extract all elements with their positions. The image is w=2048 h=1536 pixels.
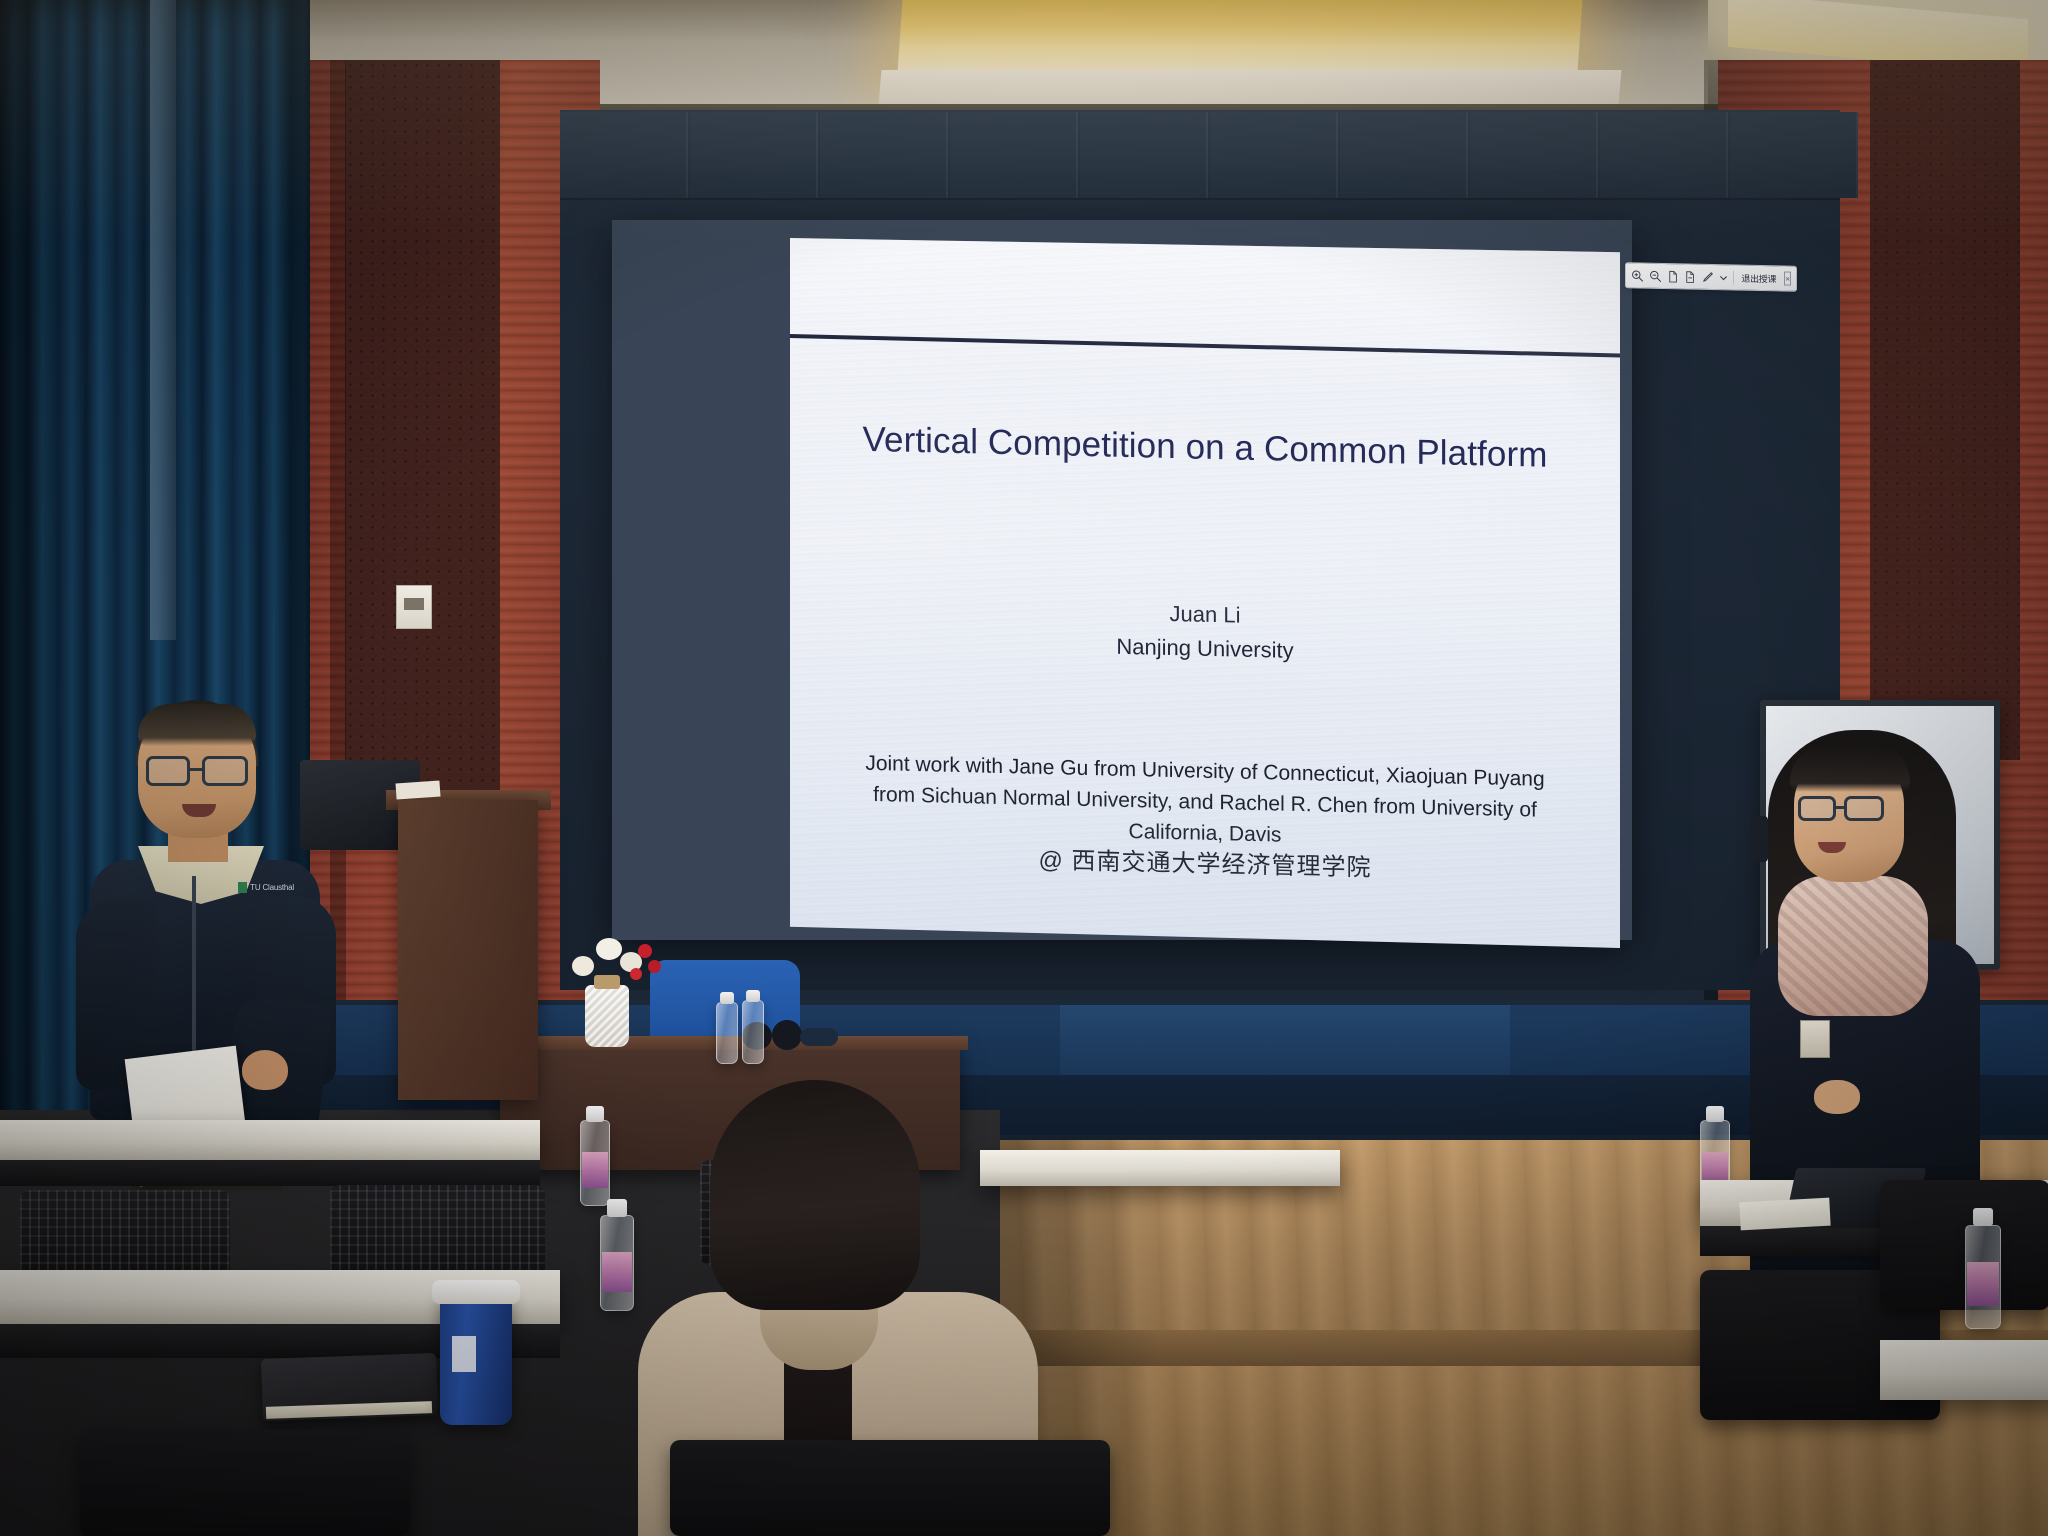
bottle-cap xyxy=(720,992,734,1004)
prev-page-icon[interactable] xyxy=(1667,268,1679,285)
bottle-cap xyxy=(1706,1106,1724,1122)
microphone-stand xyxy=(800,1028,838,1046)
ceiling-recess-lip xyxy=(879,70,1622,104)
surround-block xyxy=(950,112,1078,198)
curtain-fold-highlight xyxy=(150,0,176,640)
glasses-bridge xyxy=(1836,806,1846,809)
surround-block xyxy=(1470,112,1598,198)
podium-paper xyxy=(395,780,440,799)
glasses-lens-left xyxy=(146,756,190,786)
podium xyxy=(398,800,538,1100)
attendee-hair xyxy=(710,1080,920,1310)
chevron-down-icon[interactable] xyxy=(1719,269,1728,286)
presenter-scarf xyxy=(1778,876,1928,1016)
surround-block xyxy=(820,112,948,198)
surround-block xyxy=(1730,112,1858,198)
lecture-hall-photo: Vertical Competition on a Common Platfor… xyxy=(0,0,2048,1536)
glasses-lens-right xyxy=(1844,796,1884,821)
flower-red-berry xyxy=(648,960,661,973)
vase-neck xyxy=(594,975,620,989)
bottle-cap xyxy=(586,1106,604,1122)
jacket-logo-text: TU Clausthal xyxy=(250,883,294,892)
close-icon[interactable]: × xyxy=(1784,272,1791,286)
jacket-zipper xyxy=(192,876,196,1076)
glasses-lens-left xyxy=(1798,796,1836,821)
water-bottle xyxy=(716,1002,738,1064)
glasses-lens-right xyxy=(202,756,248,786)
flower-red-berry xyxy=(630,968,642,980)
bottle-label xyxy=(602,1252,632,1292)
surround-block xyxy=(1210,112,1338,198)
next-page-icon[interactable] xyxy=(1684,268,1696,285)
audience-chair xyxy=(1880,1180,2048,1310)
presenter-hand xyxy=(1814,1080,1860,1114)
slide-title: Vertical Competition on a Common Platfor… xyxy=(790,418,1620,478)
surround-block xyxy=(1080,112,1208,198)
name-badge xyxy=(1800,1020,1830,1058)
coffee-cup-lid xyxy=(432,1280,520,1304)
projector-control-toolbar[interactable]: 退出授课 × xyxy=(1625,262,1797,292)
surround-block xyxy=(560,112,688,198)
flower-white xyxy=(572,956,594,976)
exit-presentation-button[interactable]: 退出授课 xyxy=(1738,271,1779,285)
bottle-cap xyxy=(1973,1208,1993,1226)
speaker-hairline xyxy=(138,704,256,746)
microphone-base xyxy=(772,1020,802,1050)
left-speaker: TU Clausthal xyxy=(60,700,390,1180)
surround-block xyxy=(1600,112,1728,198)
bottle-label xyxy=(582,1152,608,1188)
presenter-hairline xyxy=(1790,744,1910,792)
speaker-hand xyxy=(242,1050,288,1090)
bottle-cap xyxy=(607,1199,627,1217)
bottle-cap xyxy=(746,990,760,1002)
flower-vase xyxy=(585,985,629,1047)
audience-chair xyxy=(670,1440,1110,1536)
surround-block xyxy=(1340,112,1468,198)
glasses-bridge xyxy=(190,768,203,771)
socket-slot xyxy=(404,598,424,610)
slide-acknowledgement-block: Joint work with Jane Gu from University … xyxy=(820,747,1590,889)
audience-chair xyxy=(80,1430,410,1536)
bottle-label xyxy=(1967,1262,1999,1306)
flower-red-berry xyxy=(638,944,652,958)
flower-white xyxy=(596,938,622,960)
coffee-cup xyxy=(440,1295,512,1425)
zoom-in-icon[interactable] xyxy=(1631,267,1644,284)
projected-slide[interactable]: Vertical Competition on a Common Platfor… xyxy=(790,238,1620,948)
zoom-out-icon[interactable] xyxy=(1649,267,1662,284)
acoustic-perforated-panel-left xyxy=(345,60,500,800)
acoustic-perforated-panel-right xyxy=(1870,60,2020,760)
water-bottle xyxy=(742,1000,764,1064)
paper-sheet xyxy=(1739,1198,1830,1231)
jacket-logo-mark xyxy=(238,882,247,893)
stage-band-highlight xyxy=(1060,1005,1510,1075)
slide-author-block: Juan Li Nanjing University xyxy=(790,588,1620,676)
audience-table xyxy=(1880,1340,2048,1400)
jacket-logo: TU Clausthal xyxy=(238,880,294,894)
pen-icon[interactable] xyxy=(1701,268,1714,285)
surround-block xyxy=(690,112,818,198)
audience-table xyxy=(0,1120,540,1160)
slide-divider-rule xyxy=(790,334,1620,358)
coffee-cup-label xyxy=(452,1336,476,1372)
table-front-panel xyxy=(0,1160,540,1186)
